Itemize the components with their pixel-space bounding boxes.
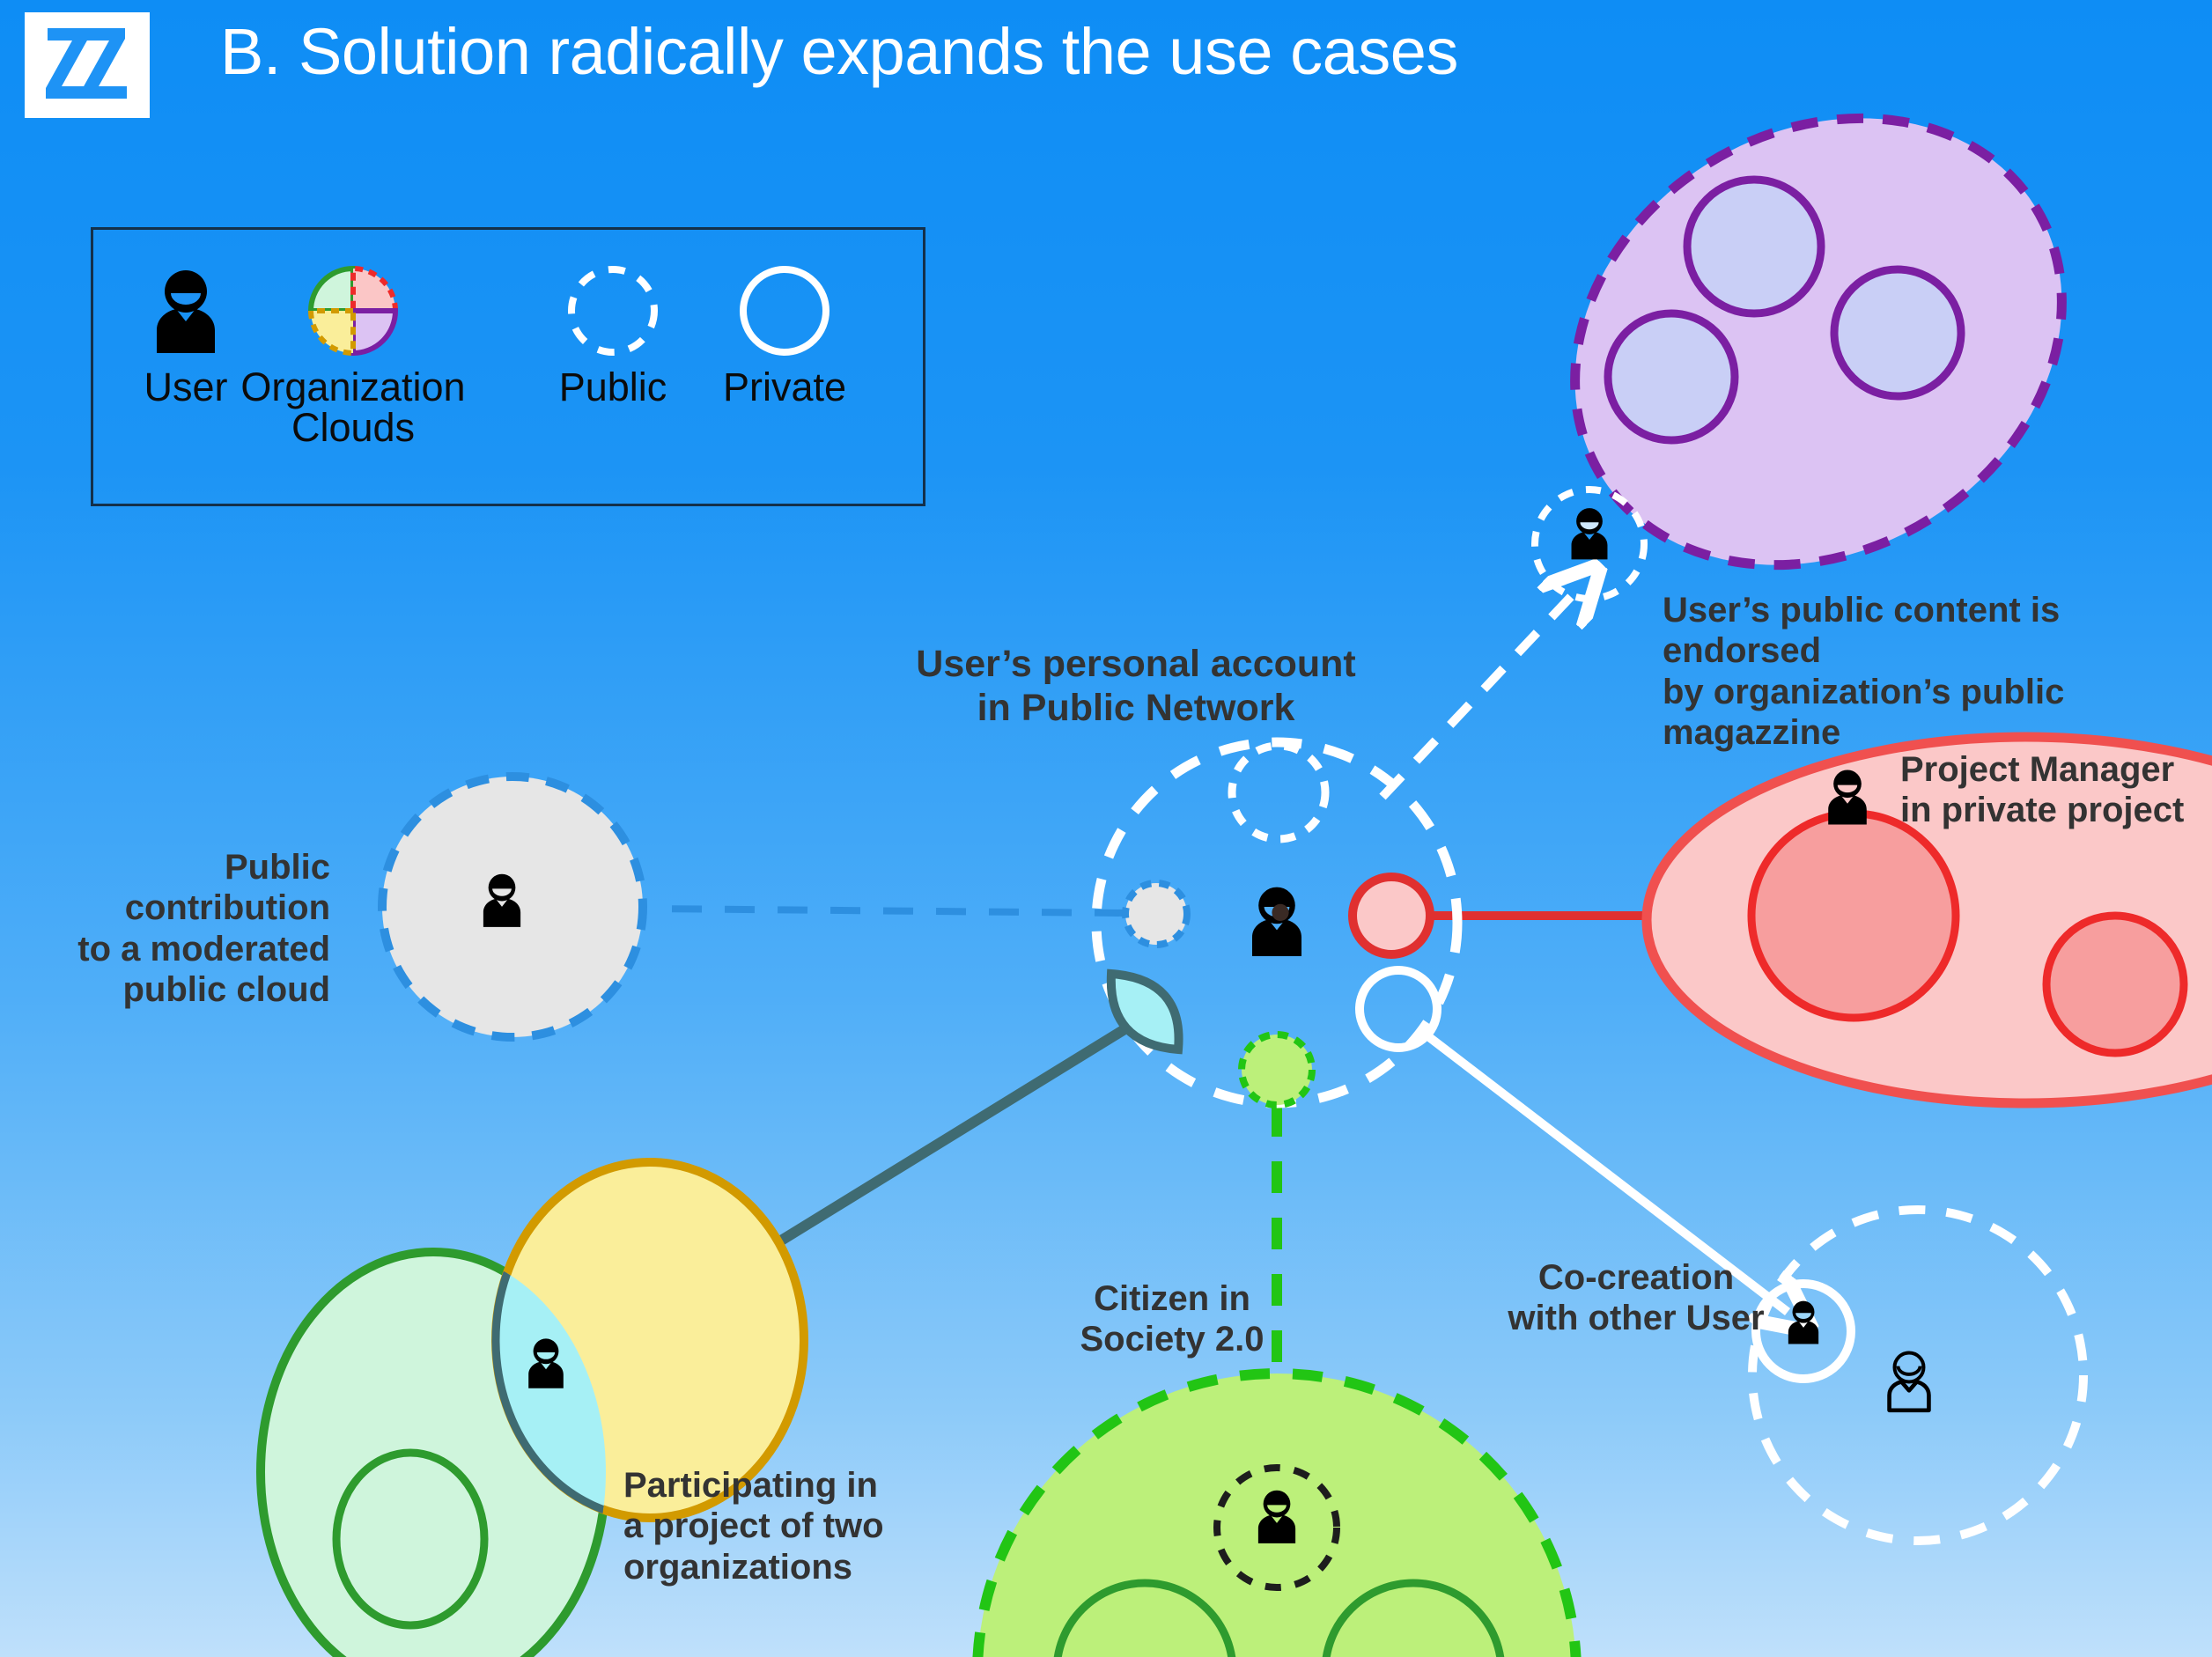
hub-two-organizations-lens[interactable] [1111,974,1179,1049]
magazzine-inner-circle [1834,269,1961,396]
label-line: a project of two [623,1506,923,1546]
label-line: Public contribution [26,847,330,929]
label-line: organizations [623,1547,923,1587]
label-cocreation: Co-creation with other User [1451,1257,1821,1339]
label-line: Participating in [623,1465,923,1506]
label-line: User’s personal account [889,643,1382,687]
magazzine-inner-circle [1687,180,1821,313]
hub-public-cloud-node[interactable] [1125,883,1187,945]
label-line: public cloud [26,969,330,1010]
label-line: Society 2.0 [1080,1319,1265,1359]
link-hub-to-magazzine [1382,588,1579,797]
magazzine-inner-circle [1608,313,1735,440]
private-project-inner-circle [2046,916,2184,1053]
label-citizen-society: Citizen in Society 2.0 [1080,1278,1265,1360]
hub-private-project-node[interactable] [1353,877,1430,954]
magazzine-ellipse [1491,28,2146,654]
other-user-outline-icon [1890,1352,1929,1410]
label-public-content-endorsed: User’s public content is endorsed by org… [1663,590,2212,754]
society-2-0-cluster[interactable] [977,1373,1576,1657]
public-magazzine-cluster[interactable] [1491,28,2146,654]
use-case-network-diagram [0,0,2212,1657]
label-public-contribution: Public contribution to a moderated publi… [26,847,330,1011]
label-line: in private project [1900,790,2191,830]
hub-user-icon [1252,887,1301,956]
link-hub-to-public-cloud [652,909,1124,913]
private-project-inner-circle [1751,814,1956,1018]
moderated-public-cloud-cluster[interactable] [382,777,643,1037]
label-line: by organization’s public magazzine [1663,672,2212,754]
label-participating-two-organizations: Participating in a project of two organi… [623,1465,923,1587]
label-line: User’s public content is endorsed [1663,590,2212,672]
label-project-manager: Project Manager in private project [1900,749,2191,831]
label-line: Project Manager [1900,749,2191,790]
hub-public-small-circle [1232,746,1325,839]
label-users-personal-account: User’s personal account in Public Networ… [889,643,1382,731]
label-line: in Public Network [889,687,1382,731]
label-line: with other User [1451,1298,1821,1338]
hub-cocreation-node[interactable] [1360,970,1437,1048]
label-line: Citizen in [1080,1278,1265,1319]
hub-society-node[interactable] [1242,1035,1312,1105]
label-line: Co-creation [1451,1257,1821,1298]
magazzine-user-icon [1572,508,1608,559]
slide-canvas: B. Solution radically expands the use ca… [0,0,2212,1657]
users-personal-account-hub[interactable] [1096,742,1457,1105]
label-line: to a moderated [26,929,330,969]
